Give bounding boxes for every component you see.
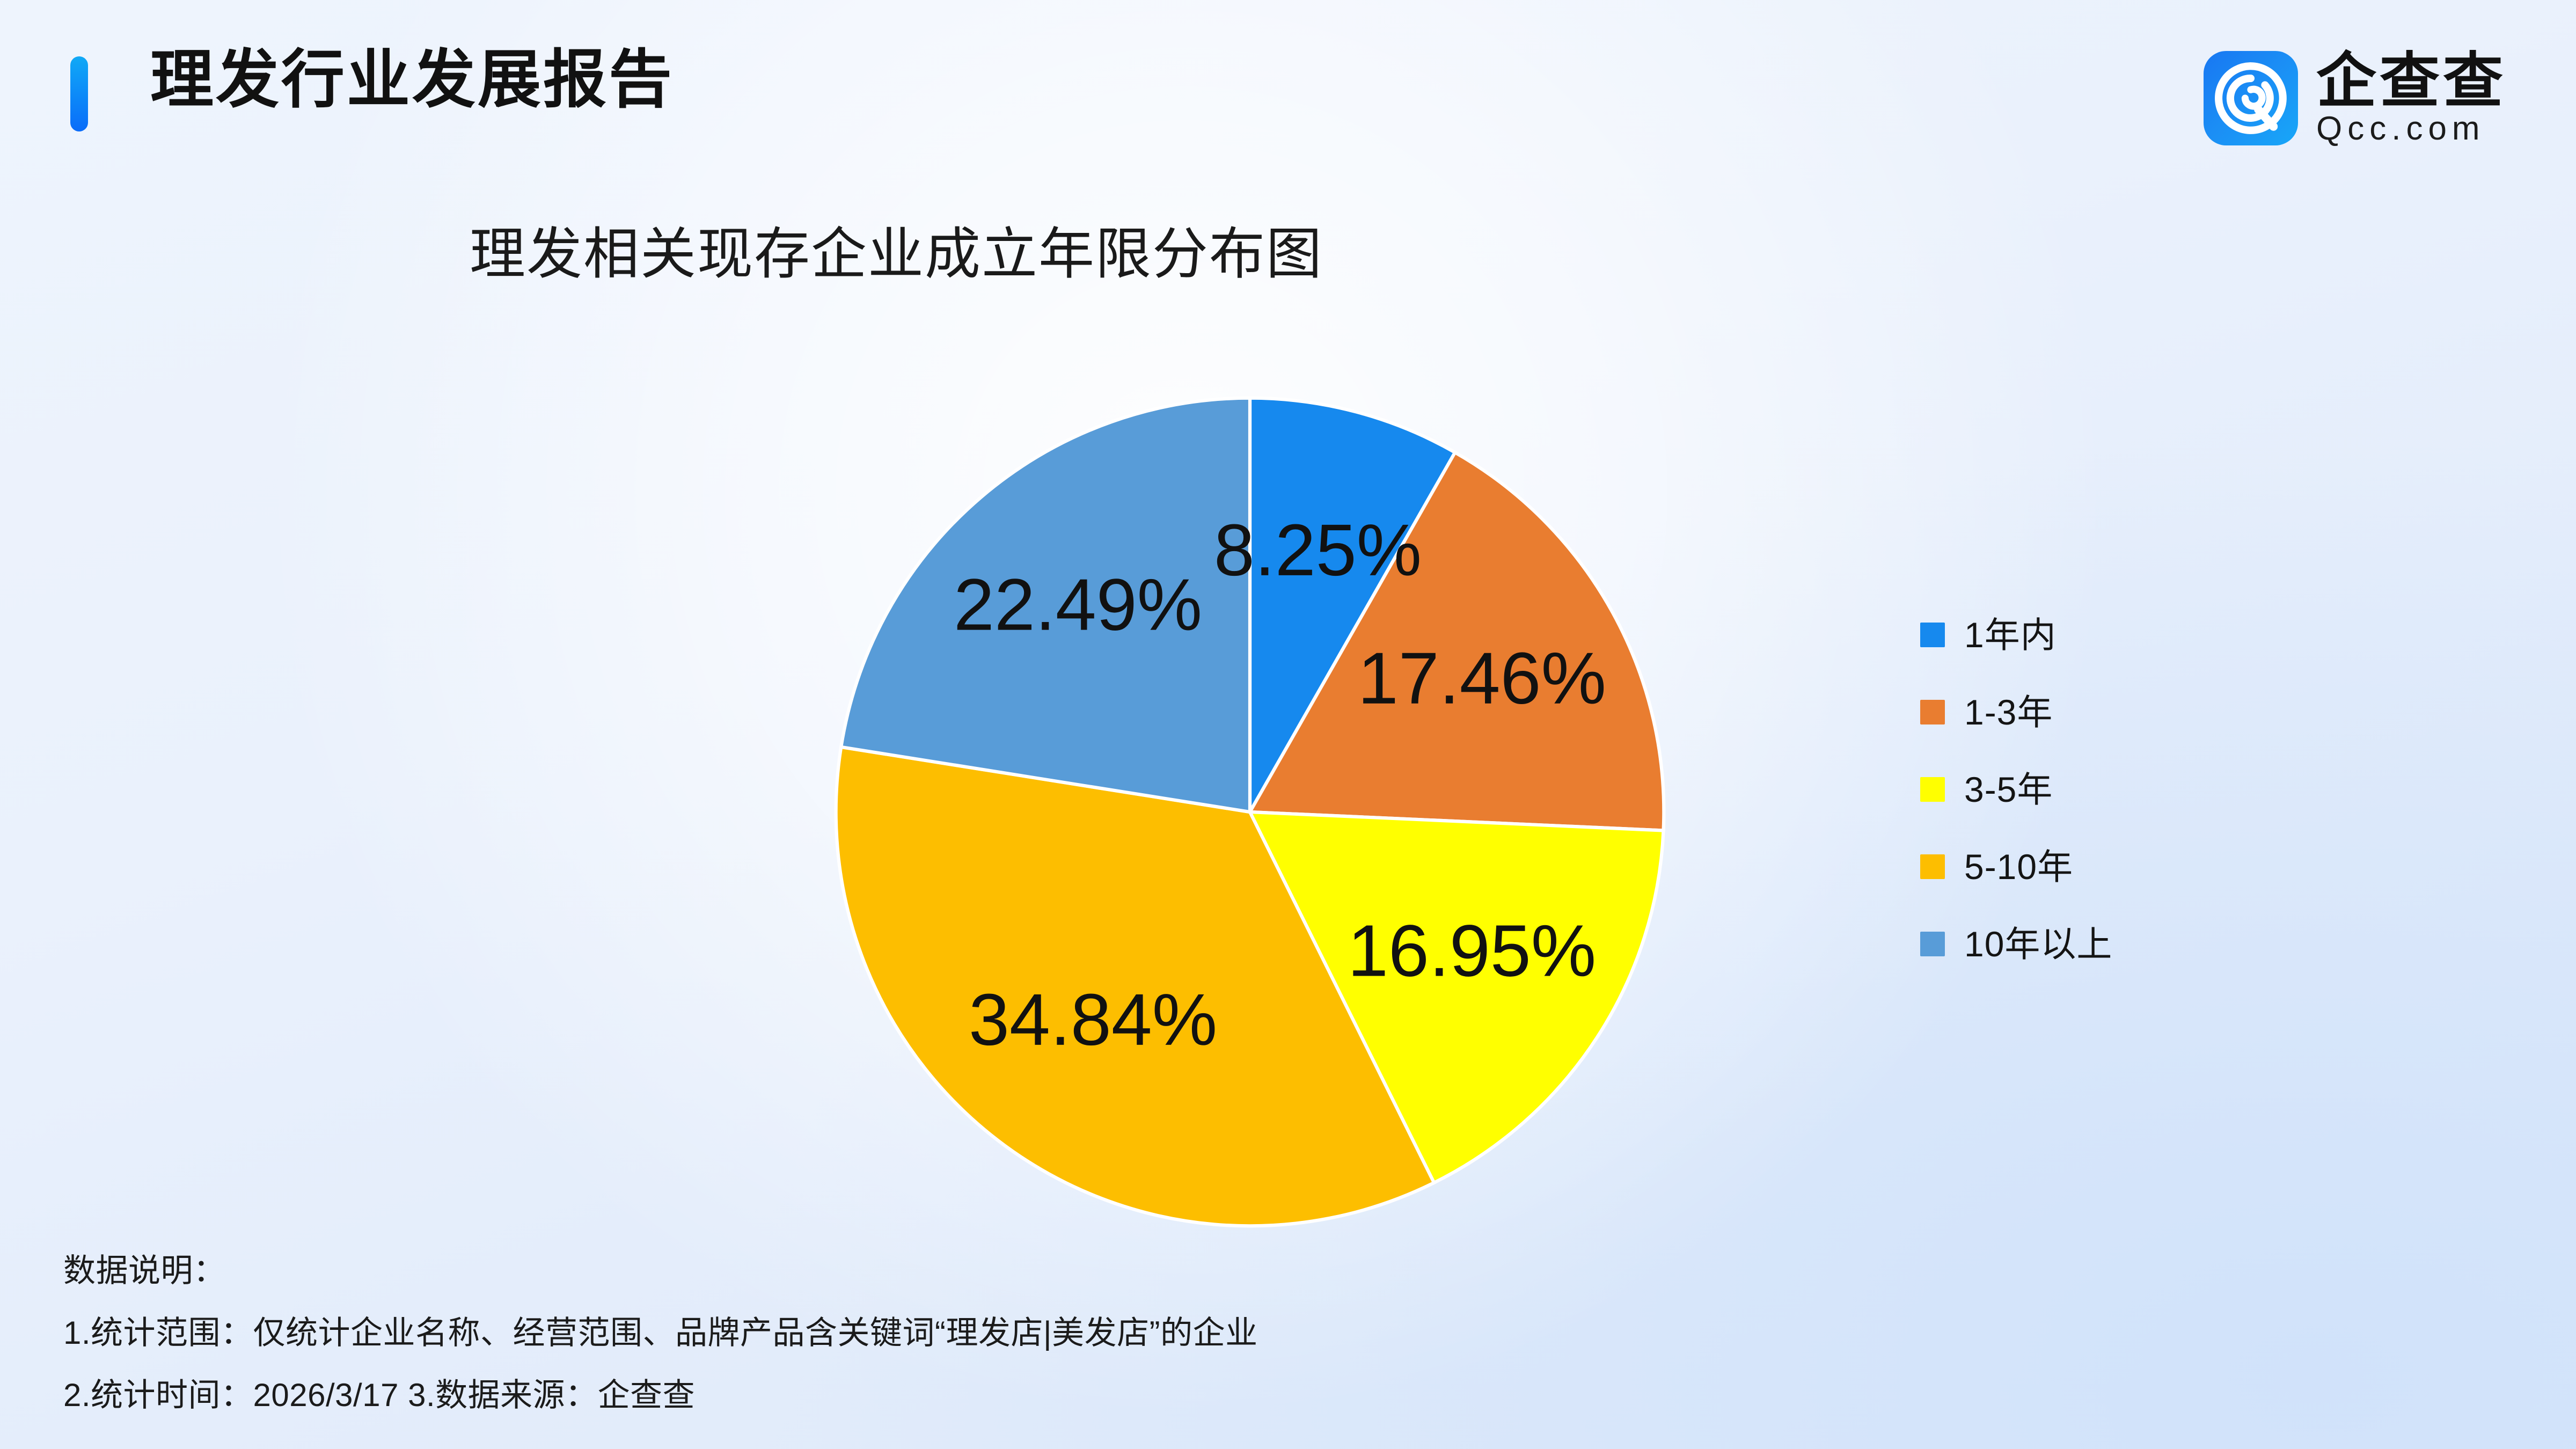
pie-chart: 8.25%17.46%16.95%34.84%22.49% — [833, 396, 1666, 1228]
brand-logo: 企查查 Qcc.com — [2204, 51, 2506, 145]
page-header: 理发行业发展报告 企查查 Qcc.com — [0, 0, 2576, 215]
report-page: 理发行业发展报告 企查查 Qcc.com 理发相关现存企业成立年限分布图 — [0, 0, 2576, 1449]
legend-item-label: 1-3年 — [1964, 694, 2053, 730]
title-accent-bar — [70, 56, 88, 131]
brand-name-en: Qcc.com — [2316, 112, 2506, 145]
legend-item-label: 5-10年 — [1964, 849, 2073, 884]
pie-slice-label: 16.95% — [1348, 910, 1596, 992]
page-title: 理发行业发展报告 — [150, 44, 674, 117]
legend-swatch-icon — [1920, 854, 1945, 879]
legend-item[interactable]: 1年内 — [1920, 618, 2112, 652]
legend-item[interactable]: 5-10年 — [1920, 850, 2112, 883]
legend-item-label: 10年以上 — [1964, 926, 2112, 962]
pie-chart-svg: 8.25%17.46%16.95%34.84%22.49% — [833, 396, 1666, 1228]
pie-slice-label: 8.25% — [1214, 509, 1422, 591]
data-notes: 数据说明： 1.统计范围：仅统计企业名称、经营范围、品牌产品含关键词“理发店|美… — [63, 1255, 2317, 1411]
brand-wordmark: 企查查 Qcc.com — [2316, 51, 2506, 145]
legend-swatch-icon — [1920, 623, 1945, 647]
legend-item-label: 1年内 — [1964, 617, 2057, 653]
legend-item[interactable]: 1-3年 — [1920, 696, 2112, 729]
legend-item-label: 3-5年 — [1964, 772, 2053, 807]
brand-name-cn: 企查查 — [2316, 51, 2506, 111]
pie-slice-label: 34.84% — [969, 978, 1217, 1060]
legend-swatch-icon — [1920, 932, 1945, 956]
legend-swatch-icon — [1920, 777, 1945, 802]
pie-slice-label: 17.46% — [1358, 637, 1606, 719]
chart-legend: 1年内1-3年3-5年5-10年10年以上 — [1920, 618, 2112, 961]
notes-line-1: 1.统计范围：仅统计企业名称、经营范围、品牌产品含关键词“理发店|美发店”的企业 — [63, 1317, 2317, 1349]
notes-line-2: 2.统计时间：2026/3/17 3.数据来源：企查查 — [63, 1379, 2317, 1411]
legend-item[interactable]: 10年以上 — [1920, 927, 2112, 961]
legend-item[interactable]: 3-5年 — [1920, 773, 2112, 806]
notes-heading: 数据说明： — [63, 1255, 2317, 1287]
legend-swatch-icon — [1920, 700, 1945, 724]
pie-slice-label: 22.49% — [954, 563, 1202, 646]
chart-title: 理发相关现存企业成立年限分布图 — [0, 208, 1792, 289]
qcc-spiral-target-icon — [2204, 51, 2298, 145]
